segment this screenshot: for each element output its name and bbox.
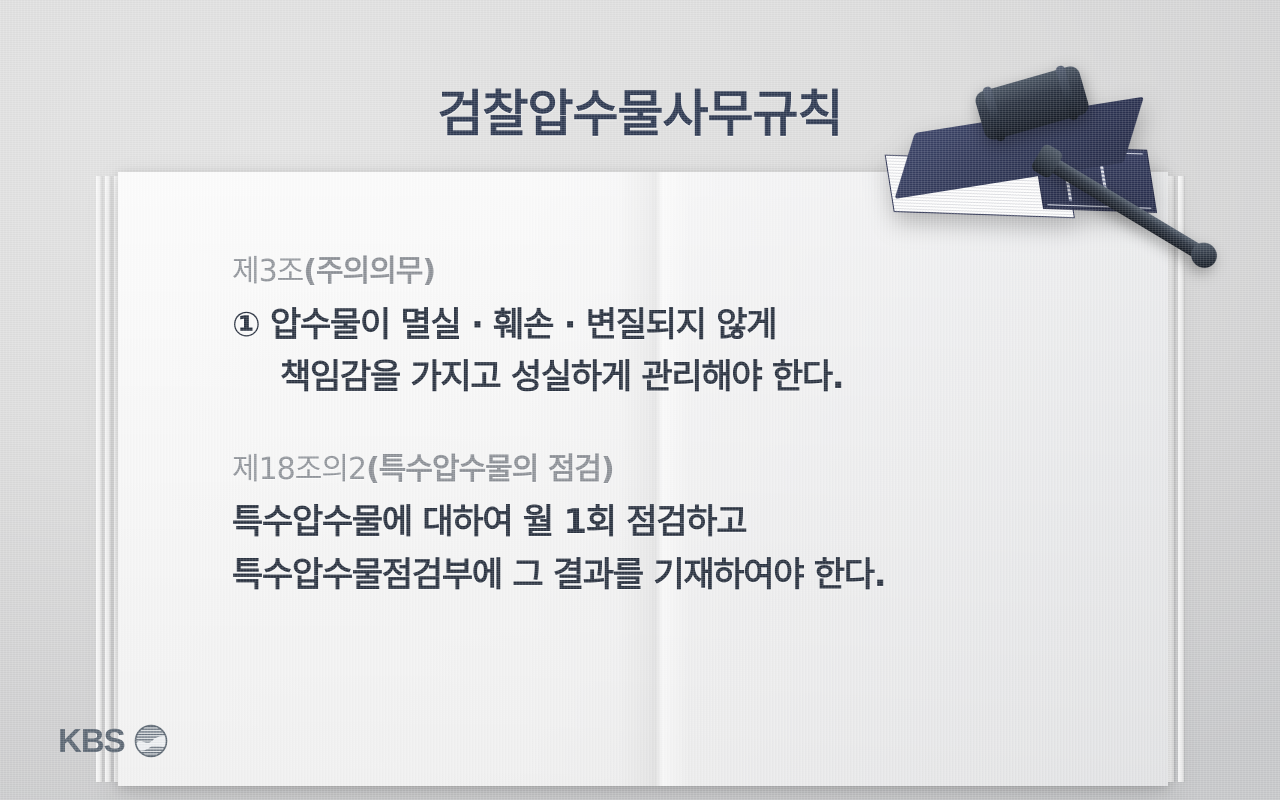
article-heading-1-number: 제3조 <box>232 254 303 289</box>
article-2-line-2: 특수압수물점검부에 그 결과를 기재하여야 한다. <box>232 549 1072 602</box>
kbs-globe-icon <box>134 724 168 758</box>
kbs-wordmark: KBS <box>58 722 125 760</box>
article-heading-1-title: (주의의무) <box>303 254 435 289</box>
article-1-line-1: ① 압수물이 멸실 · 훼손 · 변질되지 않게 <box>232 299 1072 352</box>
article-1-line-2: 책임감을 가지고 성실하게 관리해야 한다. <box>232 351 1072 404</box>
article-2-line-1: 특수압수물에 대하여 월 1회 점검하고 <box>232 496 1072 549</box>
article-heading-1: 제3조(주의의무) <box>232 252 1072 293</box>
article-heading-2-title: (특수압수물의 점검) <box>366 452 614 487</box>
section-spacer <box>232 404 1072 450</box>
kbs-logo: KBS <box>58 722 168 760</box>
article-1-line-2-text: 책임감을 가지고 성실하게 관리해야 한다. <box>280 357 843 397</box>
article-heading-2-number: 제18조의2 <box>232 452 366 487</box>
broadcast-graphic-slide: 검찰압수물사무규칙 제3조(주의의무) ① 압수물이 멸실 · 훼손 · 변질되… <box>0 0 1280 800</box>
regulation-text-block: 제3조(주의의무) ① 압수물이 멸실 · 훼손 · 변질되지 않게 책임감을 … <box>232 252 1072 602</box>
article-heading-2: 제18조의2(특수압수물의 점검) <box>232 450 1072 491</box>
